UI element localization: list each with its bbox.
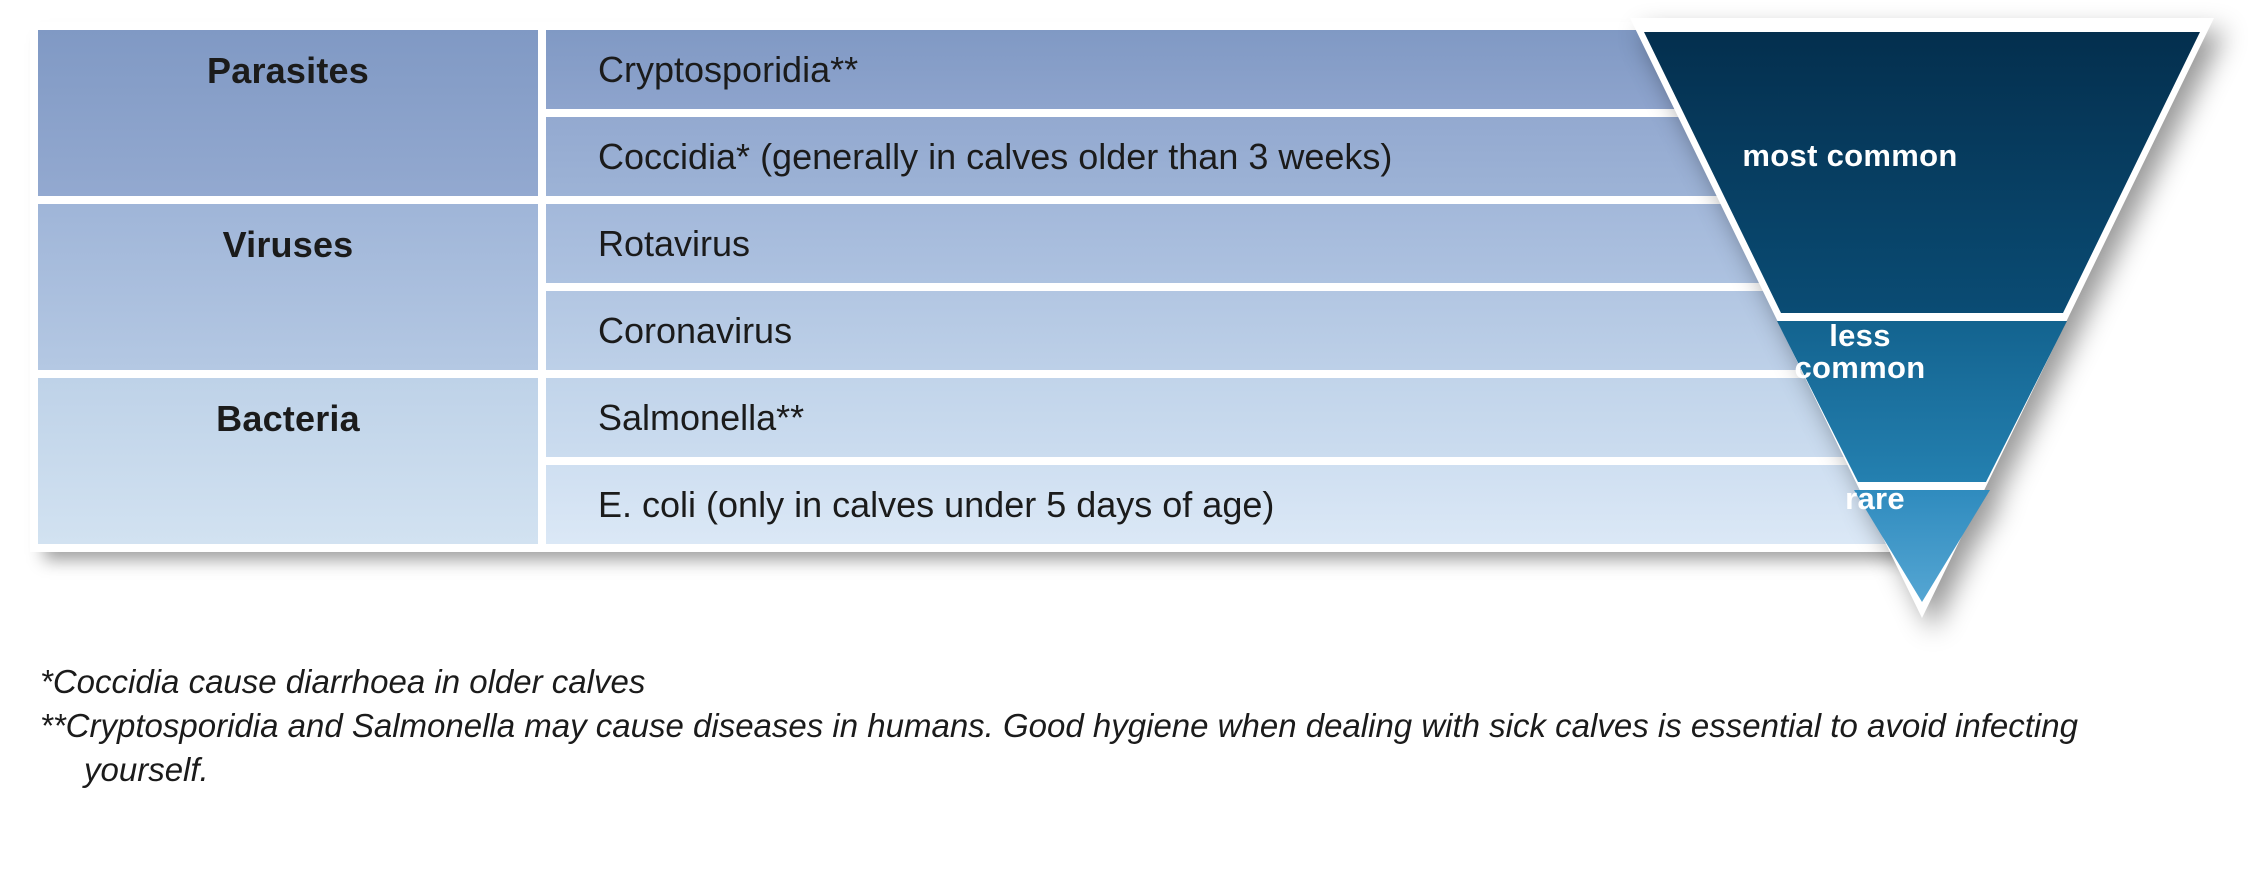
group-label: Parasites bbox=[207, 50, 369, 92]
pathogen-name-column: Cryptosporidia** Coccidia* (generally in… bbox=[546, 30, 1904, 544]
pathogen-name: Salmonella** bbox=[598, 397, 804, 439]
figure-canvas: Parasites Viruses Bacteria Cryptosporidi… bbox=[0, 0, 2267, 884]
table-row: Rotavirus bbox=[546, 204, 1904, 283]
footnote-double-asterisk: **Cryptosporidia and Salmonella may caus… bbox=[40, 704, 2240, 748]
footnote-single-asterisk: *Coccidia cause diarrhoea in older calve… bbox=[40, 660, 2240, 704]
pathogen-name: Cryptosporidia** bbox=[598, 49, 858, 91]
table-row-group-bacteria: Bacteria bbox=[38, 378, 538, 544]
table-row: Coronavirus bbox=[546, 291, 1904, 370]
table-row-group-parasites: Parasites bbox=[38, 30, 538, 196]
group-label: Viruses bbox=[223, 224, 354, 266]
funnel-label-most-common: most common bbox=[1700, 140, 2000, 172]
table-row: E. coli (only in calves under 5 days of … bbox=[546, 465, 1904, 544]
pathogen-group-column: Parasites Viruses Bacteria bbox=[38, 30, 538, 544]
footnotes: *Coccidia cause diarrhoea in older calve… bbox=[40, 660, 2240, 793]
pathogen-name: Coronavirus bbox=[598, 310, 792, 352]
group-label: Bacteria bbox=[216, 398, 360, 440]
pathogen-table: Parasites Viruses Bacteria Cryptosporidi… bbox=[30, 22, 1910, 552]
table-grid: Parasites Viruses Bacteria Cryptosporidi… bbox=[38, 30, 1904, 544]
table-row: Salmonella** bbox=[546, 378, 1904, 457]
table-row: Cryptosporidia** bbox=[546, 30, 1904, 109]
pathogen-name: Rotavirus bbox=[598, 223, 750, 265]
pathogen-name: E. coli (only in calves under 5 days of … bbox=[598, 484, 1274, 526]
pathogen-name: Coccidia* (generally in calves older tha… bbox=[598, 136, 1392, 178]
funnel-label-less-common: less common bbox=[1770, 320, 1950, 383]
footnote-double-asterisk-continued: yourself. bbox=[40, 748, 2240, 792]
funnel-label-rare: rare bbox=[1800, 483, 1950, 515]
table-row-group-viruses: Viruses bbox=[38, 204, 538, 370]
